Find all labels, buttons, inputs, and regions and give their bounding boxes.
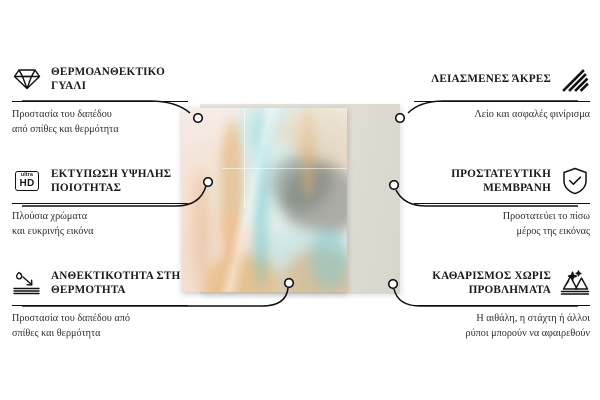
smooth-edges-icon (560, 64, 590, 94)
feature-body-line1: Προστασία του δαπέδου από (12, 312, 188, 327)
feature-body-line1: Προστασία του δαπέδου (12, 108, 188, 123)
feature-body: Πλούσια χρώματα και ευκρινής εικόνα (12, 210, 188, 240)
feature-body-line1: Η αιθάλη, η στάχτη ή άλλοι (414, 312, 590, 327)
glass-panel (182, 108, 347, 292)
glass-sheen (182, 108, 347, 292)
feature-body: Προστατεύει το πίσω μέρος της εικόνας (414, 210, 590, 240)
feature-body: Η αιθάλη, η στάχτη ή άλλοι ρύποι μπορούν… (414, 312, 590, 342)
product-image (182, 106, 400, 294)
feature-heat-durability: ΑΝΘΕΚΤΙΚΟΤΗΤΑ ΣΤΗ ΘΕΡΜΟΤΗΤΑ Προστασία το… (12, 266, 188, 342)
divider (414, 203, 590, 204)
heat-resistance-icon (12, 268, 42, 298)
divider (414, 305, 590, 306)
infographic-canvas: ΘΕΡΜΟΑΝΘΕΚΤΙΚΟ ΓΥΑΛΙ Προστασία του δαπέδ… (0, 0, 600, 400)
feature-title: ΘΕΡΜΟΑΝΘΕΚΤΙΚΟ ΓΥΑΛΙ (51, 65, 188, 94)
feature-title: ΛΕΙΑΣΜΕΝΕΣ ΆΚΡΕΣ (431, 72, 551, 86)
divider (12, 305, 188, 306)
feature-title: ΠΡΟΣΤΑΤΕΥΤΙΚΗ ΜΕΜΒΡΑΝΗ (414, 167, 551, 196)
feature-body-line2: από σπίθες και θερμότητα (12, 123, 188, 138)
feature-body-line2: σπίθες και θερμότητα (12, 327, 188, 342)
feature-easy-cleaning: ΚΑΘΑΡΙΣΜΟΣ ΧΩΡΙΣ ΠΡΟΒΛΗΜΑΤΑ Η αιθάλη, η … (414, 266, 590, 342)
divider (12, 101, 188, 102)
divider (12, 203, 188, 204)
feature-body-line2: και ευκρινής εικόνα (12, 225, 188, 240)
ultra-hd-main-label: HD (19, 179, 34, 189)
diamond-icon (12, 64, 42, 94)
feature-title: ΕΚΤΥΠΩΣΗ ΥΨΗΛΗΣ ΠΟΙΟΤΗΤΑΣ (51, 167, 188, 196)
easy-clean-icon (560, 268, 590, 298)
feature-body: Προστασία του δαπέδου από σπίθες και θερ… (12, 108, 188, 138)
feature-title: ΚΑΘΑΡΙΣΜΟΣ ΧΩΡΙΣ ΠΡΟΒΛΗΜΑΤΑ (414, 269, 551, 298)
feature-heat-resistant-glass: ΘΕΡΜΟΑΝΘΕΚΤΙΚΟ ΓΥΑΛΙ Προστασία του δαπέδ… (12, 62, 188, 138)
feature-body-line1: Λείο και ασφαλές φινίρισμα (414, 108, 590, 123)
feature-body: Προστασία του δαπέδου από σπίθες και θερ… (12, 312, 188, 342)
feature-smoothed-edges: ΛΕΙΑΣΜΕΝΕΣ ΆΚΡΕΣ Λείο και ασφαλές φινίρι… (414, 62, 590, 123)
feature-protective-membrane: ΠΡΟΣΤΑΤΕΥΤΙΚΗ ΜΕΜΒΡΑΝΗ Προστατεύει το πί… (414, 164, 590, 240)
feature-body: Λείο και ασφαλές φινίρισμα (414, 108, 590, 123)
feature-body-line1: Προστατεύει το πίσω (414, 210, 590, 225)
feature-body-line2: μέρος της εικόνας (414, 225, 590, 240)
divider (414, 101, 590, 102)
feature-title: ΑΝΘΕΚΤΙΚΟΤΗΤΑ ΣΤΗ ΘΕΡΜΟΤΗΤΑ (51, 269, 188, 298)
ultra-hd-icon: ultra HD (12, 166, 42, 196)
feature-body-line1: Πλούσια χρώματα (12, 210, 188, 225)
feature-high-quality-print: ultra HD ΕΚΤΥΠΩΣΗ ΥΨΗΛΗΣ ΠΟΙΟΤΗΤΑΣ Πλούσ… (12, 164, 188, 240)
feature-body-line2: ρύποι μπορούν να αφαιρεθούν (414, 327, 590, 342)
shield-check-icon (560, 166, 590, 196)
